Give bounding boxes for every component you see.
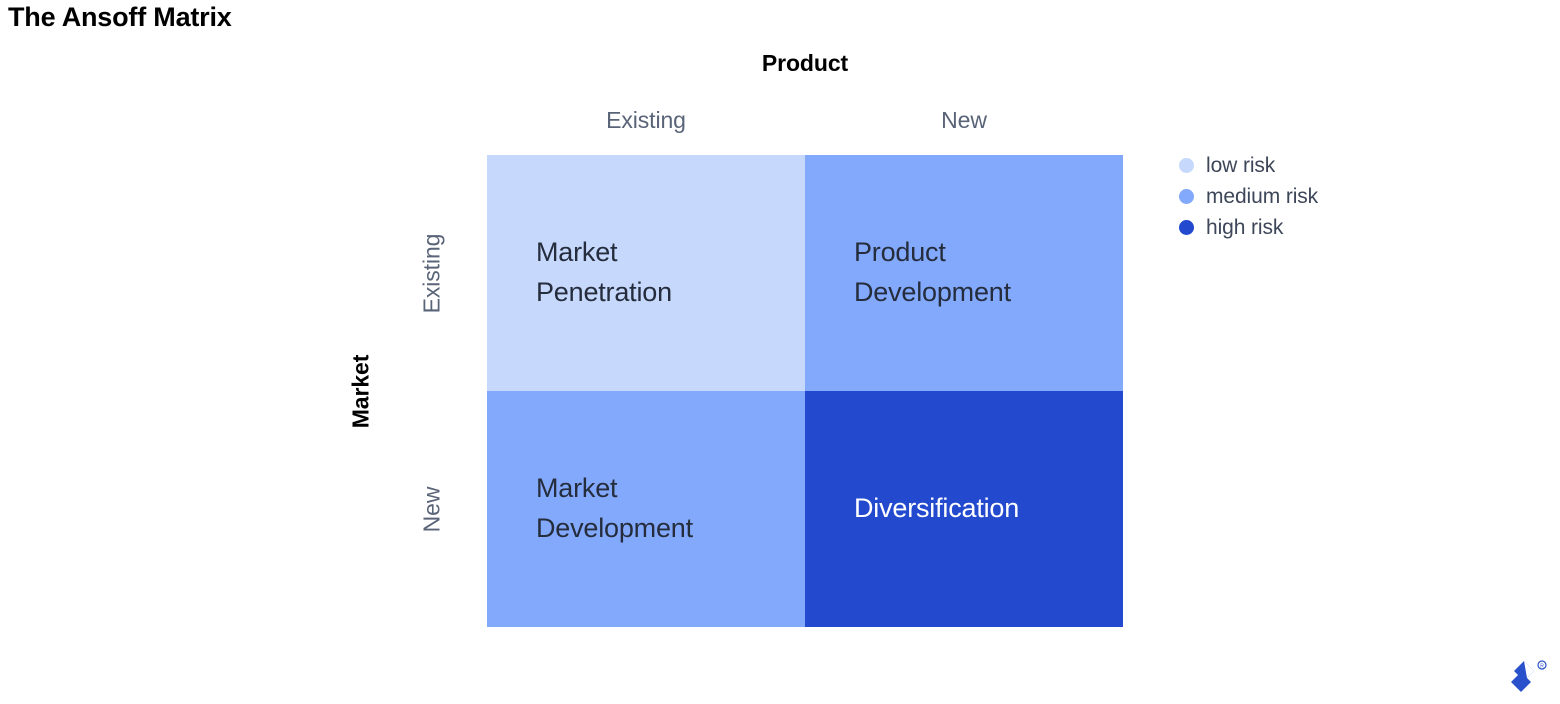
legend-label-high-risk: high risk bbox=[1206, 216, 1283, 240]
quadrant-market-penetration-label: Market Penetration bbox=[536, 233, 672, 313]
quadrant-market-development-label: Market Development bbox=[536, 469, 693, 549]
y-tick-new-text: New bbox=[419, 486, 446, 532]
quadrant-diversification[interactable]: Diversification bbox=[805, 391, 1123, 627]
legend-label-low-risk: low risk bbox=[1206, 154, 1275, 178]
y-tick-existing-text: Existing bbox=[419, 233, 446, 313]
toptal-logo: R bbox=[1502, 660, 1548, 694]
y-tick-new: New bbox=[404, 391, 460, 627]
legend-item-medium-risk[interactable]: medium risk bbox=[1179, 181, 1318, 212]
quadrant-market-development[interactable]: Market Development bbox=[487, 391, 805, 627]
x-tick-existing: Existing bbox=[487, 107, 805, 134]
quadrant-market-penetration[interactable]: Market Penetration bbox=[487, 155, 805, 391]
y-axis-title-text: Market bbox=[348, 354, 375, 428]
legend-dot-low-risk bbox=[1179, 158, 1194, 173]
ansoff-matrix: Market Penetration Product Development M… bbox=[487, 155, 1123, 627]
legend-item-low-risk[interactable]: low risk bbox=[1179, 150, 1318, 181]
y-axis-tick-labels: Existing New bbox=[404, 155, 460, 627]
quadrant-diversification-label: Diversification bbox=[854, 489, 1019, 529]
legend-label-medium-risk: medium risk bbox=[1206, 185, 1318, 209]
x-tick-new: New bbox=[805, 107, 1123, 134]
y-tick-existing: Existing bbox=[404, 155, 460, 391]
risk-legend: low risk medium risk high risk bbox=[1179, 150, 1318, 243]
legend-dot-high-risk bbox=[1179, 220, 1194, 235]
page-title: The Ansoff Matrix bbox=[8, 2, 232, 33]
legend-item-high-risk[interactable]: high risk bbox=[1179, 212, 1318, 243]
logo-glyph bbox=[1511, 661, 1534, 692]
y-axis-title: Market bbox=[333, 155, 389, 627]
toptal-logo-mark: R bbox=[1502, 660, 1548, 694]
registered-mark-letter: R bbox=[1540, 664, 1544, 670]
legend-dot-medium-risk bbox=[1179, 189, 1194, 204]
quadrant-product-development[interactable]: Product Development bbox=[805, 155, 1123, 391]
quadrant-product-development-label: Product Development bbox=[854, 233, 1011, 313]
x-axis-tick-labels: Existing New bbox=[487, 107, 1123, 134]
x-axis-title: Product bbox=[487, 50, 1123, 77]
